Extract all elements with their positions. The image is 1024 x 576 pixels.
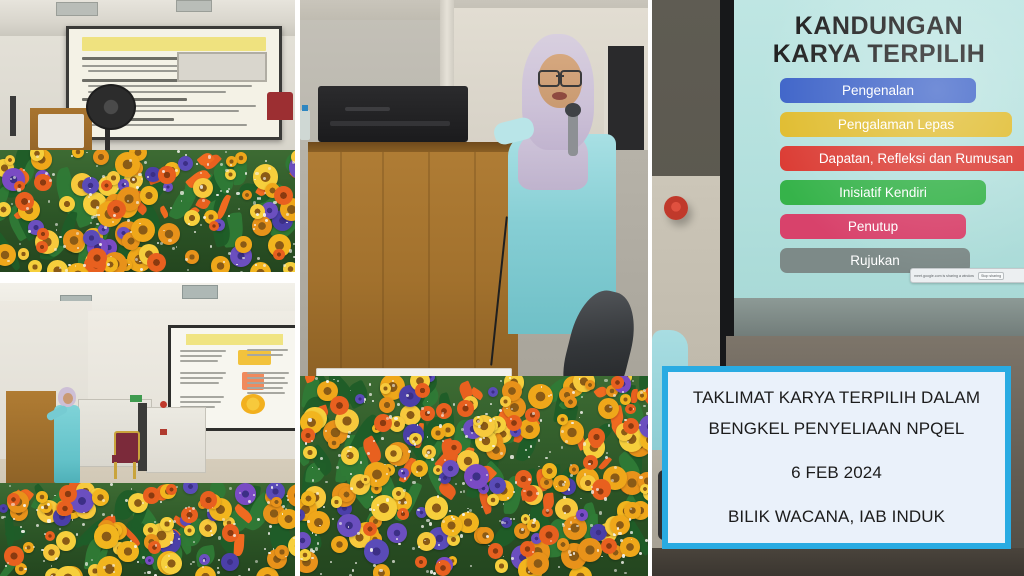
collage-canvas: KEMENTERIAN PENDIDIKAN INSTITUT AMINUDDI… [0, 0, 1024, 576]
flower-arrangement [0, 483, 295, 576]
podium [6, 391, 56, 483]
computer-monitor [318, 86, 468, 142]
gear-icon [241, 394, 265, 414]
flower-arrangement [300, 376, 648, 576]
microphone-stand [10, 96, 16, 136]
partition-panel [146, 407, 206, 473]
share-notice-text: meet.google.com is sharing a window [914, 274, 974, 278]
floor [652, 548, 1024, 576]
podium: KEMENTERIAN PENDIDIKAN INSTITUT AMINUDDI… [308, 142, 518, 392]
ceiling-light [56, 2, 98, 16]
speaker [52, 387, 82, 483]
flower-arrangement [0, 150, 295, 272]
projector-glare [734, 0, 1024, 300]
slide-title-bar [186, 334, 283, 345]
eyeglasses-icon [538, 70, 582, 83]
notice-board [177, 52, 267, 82]
collage-gap [0, 272, 295, 283]
water-bottle [300, 110, 310, 140]
photo-center: KEMENTERIAN PENDIDIKAN INSTITUT AMINUDDI… [300, 0, 648, 576]
caption-line-4: BILIK WACANA, IAB INDUK [728, 508, 945, 526]
fire-alarm-bell [160, 401, 167, 408]
speaker [496, 34, 622, 334]
slide-title-bar [82, 37, 267, 51]
caption-card: TAKLIMAT KARYA TERPILIH DALAM BENGKEL PE… [662, 366, 1011, 549]
fire-alarm-switch [160, 429, 167, 435]
caption-line-3: 6 FEB 2024 [791, 464, 882, 482]
pedestal-fan [86, 84, 136, 130]
screen-lower-edge [734, 298, 1024, 340]
podium-emblem [38, 114, 84, 148]
red-chair [267, 92, 293, 120]
air-vent-icon [182, 285, 218, 299]
photo-top-left [0, 0, 295, 272]
stop-sharing-button[interactable]: Stop sharing [978, 272, 1004, 280]
caption-line-1: TAKLIMAT KARYA TERPILIH DALAM [693, 389, 980, 407]
exit-sign [130, 395, 142, 402]
screen-share-notice[interactable]: meet.google.com is sharing a window Stop… [910, 268, 1024, 283]
photo-bottom-left [0, 283, 295, 576]
air-vent-icon [176, 0, 212, 12]
fire-alarm-bell [664, 196, 688, 220]
microphone [568, 110, 578, 156]
laptop-icon [238, 350, 271, 365]
banquet-chair [112, 431, 138, 479]
caption-line-2: BENGKEL PENYELIAAN NPQEL [709, 420, 965, 438]
